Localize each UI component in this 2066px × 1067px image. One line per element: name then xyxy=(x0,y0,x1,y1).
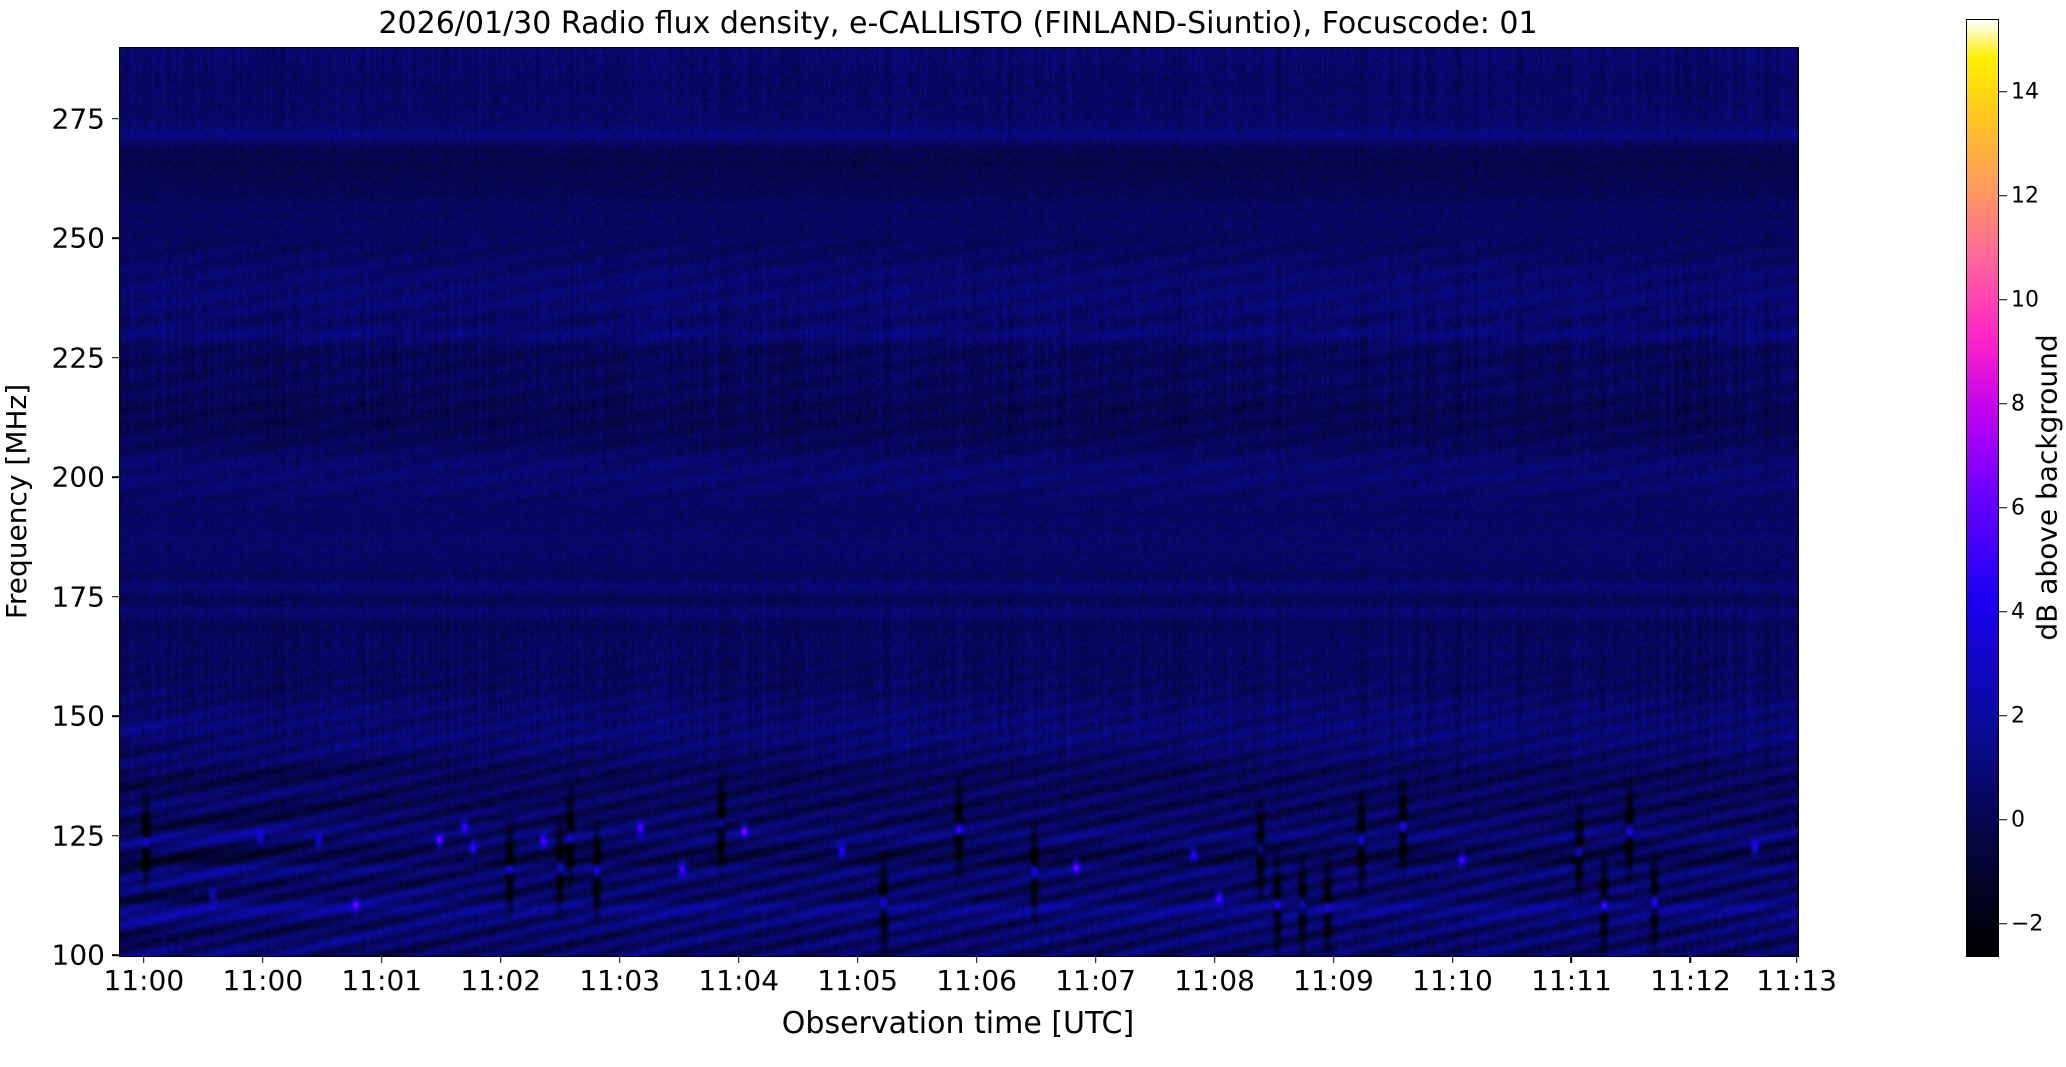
x-tick-label: 11:01 xyxy=(341,964,422,997)
x-tick-mark xyxy=(857,956,859,963)
x-tick-label: 11:05 xyxy=(817,964,898,997)
colorbar-tick-mark xyxy=(1999,507,2007,509)
y-axis-label: Frequency [MHz] xyxy=(0,47,34,955)
x-tick-label: 11:11 xyxy=(1531,964,1612,997)
x-tick-label: 11:00 xyxy=(222,964,303,997)
x-tick-mark xyxy=(1690,956,1692,963)
x-tick-mark xyxy=(1095,956,1097,963)
x-tick-label: 11:08 xyxy=(1174,964,1255,997)
colorbar-tick-mark xyxy=(1999,299,2007,301)
colorbar-gradient xyxy=(1967,20,1998,956)
y-tick-label: 250 xyxy=(52,222,105,255)
y-tick-mark xyxy=(112,596,119,598)
x-tick-mark xyxy=(143,956,145,963)
x-axis-label: Observation time [UTC] xyxy=(119,1006,1797,1041)
x-tick-label: 11:02 xyxy=(460,964,541,997)
x-tick-label: 11:04 xyxy=(698,964,779,997)
y-tick-mark xyxy=(112,237,119,239)
y-tick-label: 125 xyxy=(52,819,105,852)
colorbar-tick-mark xyxy=(1999,611,2007,613)
x-tick-mark xyxy=(381,956,383,963)
page-title: 2026/01/30 Radio flux density, e-CALLIST… xyxy=(119,6,1797,41)
spectrogram-axes xyxy=(119,47,1799,957)
colorbar-tick-label: 6 xyxy=(2011,495,2025,520)
y-tick-mark xyxy=(112,476,119,478)
y-tick-label: 100 xyxy=(52,939,105,972)
x-tick-mark xyxy=(1571,956,1573,963)
y-tick-mark xyxy=(112,118,119,120)
colorbar-label-text: dB above background xyxy=(2031,334,2064,640)
y-tick-label: 150 xyxy=(52,700,105,733)
colorbar-tick-label: 8 xyxy=(2011,391,2025,416)
colorbar-tick-label: 0 xyxy=(2011,807,2025,832)
x-tick-mark xyxy=(738,956,740,963)
spectrogram-heatmap xyxy=(120,48,1798,956)
y-tick-mark xyxy=(112,357,119,359)
colorbar xyxy=(1966,19,1999,957)
y-tick-mark xyxy=(112,715,119,717)
colorbar-tick-mark xyxy=(1999,403,2007,405)
x-tick-label: 11:03 xyxy=(579,964,660,997)
x-tick-label: 11:12 xyxy=(1650,964,1731,997)
y-axis-label-text: Frequency [MHz] xyxy=(1,383,34,618)
x-tick-mark xyxy=(1333,956,1335,963)
x-tick-mark xyxy=(1214,956,1216,963)
colorbar-label: dB above background xyxy=(2028,19,2066,955)
x-tick-mark xyxy=(262,956,264,963)
colorbar-tick-label: 4 xyxy=(2011,599,2025,624)
y-tick-label: 225 xyxy=(52,341,105,374)
x-tick-mark xyxy=(500,956,502,963)
colorbar-tick-mark xyxy=(1999,923,2007,925)
x-tick-label: 11:10 xyxy=(1412,964,1493,997)
colorbar-tick-mark xyxy=(1999,819,2007,821)
x-tick-label: 11:13 xyxy=(1756,964,1837,997)
x-tick-mark xyxy=(1796,956,1798,963)
y-tick-label: 275 xyxy=(52,102,105,135)
y-tick-label: 200 xyxy=(52,461,105,494)
x-tick-mark xyxy=(1452,956,1454,963)
y-tick-mark xyxy=(112,835,119,837)
colorbar-tick-mark xyxy=(1999,195,2007,197)
x-tick-mark xyxy=(976,956,978,963)
x-tick-label: 11:00 xyxy=(103,964,184,997)
colorbar-tick-label: 2 xyxy=(2011,703,2025,728)
x-tick-label: 11:06 xyxy=(936,964,1017,997)
x-tick-mark xyxy=(619,956,621,963)
y-tick-mark xyxy=(112,954,119,956)
colorbar-tick-mark xyxy=(1999,91,2007,93)
x-tick-label: 11:09 xyxy=(1293,964,1374,997)
colorbar-tick-mark xyxy=(1999,715,2007,717)
y-tick-label: 175 xyxy=(52,580,105,613)
x-tick-label: 11:07 xyxy=(1055,964,1136,997)
